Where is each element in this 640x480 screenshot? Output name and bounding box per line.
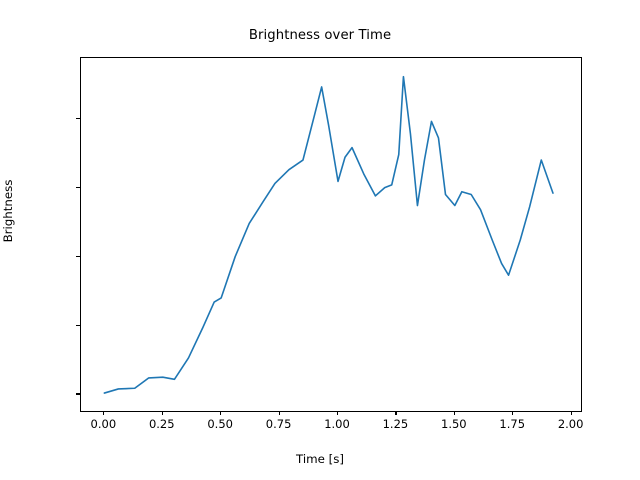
x-tick-label: 1.75 [499, 417, 525, 431]
x-tick-label: 0.00 [91, 417, 117, 431]
y-axis-label: Brightness [1, 131, 15, 291]
x-tick-label: 0.75 [266, 417, 292, 431]
page-title: Brightness over Time [0, 28, 640, 43]
y-tick-mark [76, 325, 80, 326]
y-tick-mark [76, 118, 80, 119]
x-tick-label: 1.50 [441, 417, 467, 431]
x-tick-label: 1.00 [324, 417, 350, 431]
x-tick-mark [395, 411, 396, 415]
x-tick-mark [220, 411, 221, 415]
y-tick-mark [76, 393, 80, 394]
x-axis-label: Time [s] [0, 452, 640, 466]
plot-area [80, 57, 582, 412]
figure-canvas: Brightness over Time Brightness Time [s]… [0, 0, 640, 480]
line-series-brightness [81, 58, 581, 411]
x-tick-label: 0.50 [207, 417, 233, 431]
x-tick-label: 2.00 [558, 417, 584, 431]
x-tick-mark [279, 411, 280, 415]
x-tick-mark [571, 411, 572, 415]
x-tick-mark [512, 411, 513, 415]
series-polyline [104, 77, 553, 393]
x-tick-mark [454, 411, 455, 415]
x-tick-mark [103, 411, 104, 415]
y-tick-mark [76, 187, 80, 188]
x-tick-mark [337, 411, 338, 415]
x-tick-label: 0.25 [149, 417, 175, 431]
x-tick-label: 1.25 [383, 417, 409, 431]
x-tick-mark [162, 411, 163, 415]
y-tick-mark [76, 256, 80, 257]
